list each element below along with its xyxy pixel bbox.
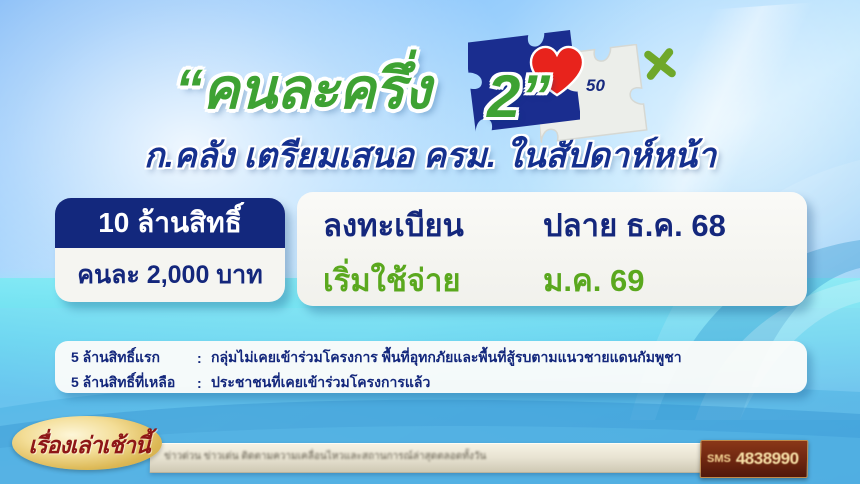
schedule-row: เริ่มใช้จ่าย ม.ค. 69 — [297, 252, 807, 306]
note-row-separator: : — [197, 350, 211, 366]
headline-title: “คนละครึ่ง — [175, 44, 430, 133]
note-row-text: ประชาชนที่เคยเข้าร่วมโครงการแล้ว — [211, 372, 430, 394]
note-row: 5 ล้านสิทธิ์ที่เหลือ : ประชาชนที่เคยเข้า… — [55, 370, 807, 393]
schedule-row-value: ปลาย ธ.ค. 68 — [543, 200, 726, 250]
sms-badge: SMS 4838990 — [700, 440, 808, 478]
schedule-row: ลงทะเบียน ปลาย ธ.ค. 68 — [297, 192, 807, 252]
note-row-text: กลุ่มไม่เคยเข้าร่วมโครงการ พื้นที่อุทกภั… — [211, 347, 682, 369]
sms-number: 4838990 — [736, 449, 799, 469]
broadcast-graphic: 50 “คนละครึ่ง 2” ก.คลัง เตรียมเสนอ ครม. … — [0, 0, 860, 484]
note-row-lead: 5 ล้านสิทธิ์แรก — [71, 347, 197, 369]
quota-panel-header: 10 ล้านสิทธิ์ — [55, 198, 285, 248]
sms-label: SMS — [707, 453, 731, 465]
news-ticker-text: ข่าวด่วน ข่าวเด่น ติดตามความเคลื่อนไหวแล… — [164, 449, 702, 464]
puzzle-value-label: 50 — [586, 76, 605, 96]
schedule-panel: ลงทะเบียน ปลาย ธ.ค. 68 เริ่มใช้จ่าย ม.ค.… — [297, 192, 807, 306]
quota-panel-header-label: 10 ล้านสิทธิ์ — [98, 201, 242, 245]
program-logo-label: เรื่องเล่าเช้านี้ — [14, 428, 164, 464]
quota-panel-body: คนละ 2,000 บาท — [55, 248, 285, 302]
schedule-row-label: เริ่มใช้จ่าย — [323, 255, 543, 305]
note-row: 5 ล้านสิทธิ์แรก : กลุ่มไม่เคยเข้าร่วมโคร… — [55, 341, 807, 370]
program-logo: เรื่องเล่าเช้านี้ — [4, 412, 170, 474]
quota-panel: 10 ล้านสิทธิ์ คนละ 2,000 บาท — [55, 198, 285, 302]
notes-panel: 5 ล้านสิทธิ์แรก : กลุ่มไม่เคยเข้าร่วมโคร… — [55, 341, 807, 393]
news-ticker: ข่าวด่วน ข่าวเด่น ติดตามความเคลื่อนไหวแล… — [150, 443, 711, 473]
headline-subtitle: ก.คลัง เตรียมเสนอ ครม. ในสัปดาห์หน้า — [0, 128, 860, 182]
plus-mark-icon — [640, 44, 680, 84]
note-row-lead: 5 ล้านสิทธิ์ที่เหลือ — [71, 372, 197, 394]
headline-title-number: 2” — [487, 62, 550, 131]
schedule-row-label: ลงทะเบียน — [323, 200, 543, 250]
note-row-separator: : — [197, 375, 211, 391]
quota-panel-body-label: คนละ 2,000 บาท — [77, 255, 262, 295]
schedule-row-value: ม.ค. 69 — [543, 255, 645, 305]
headline-group: 50 “คนละครึ่ง 2” — [0, 18, 860, 128]
